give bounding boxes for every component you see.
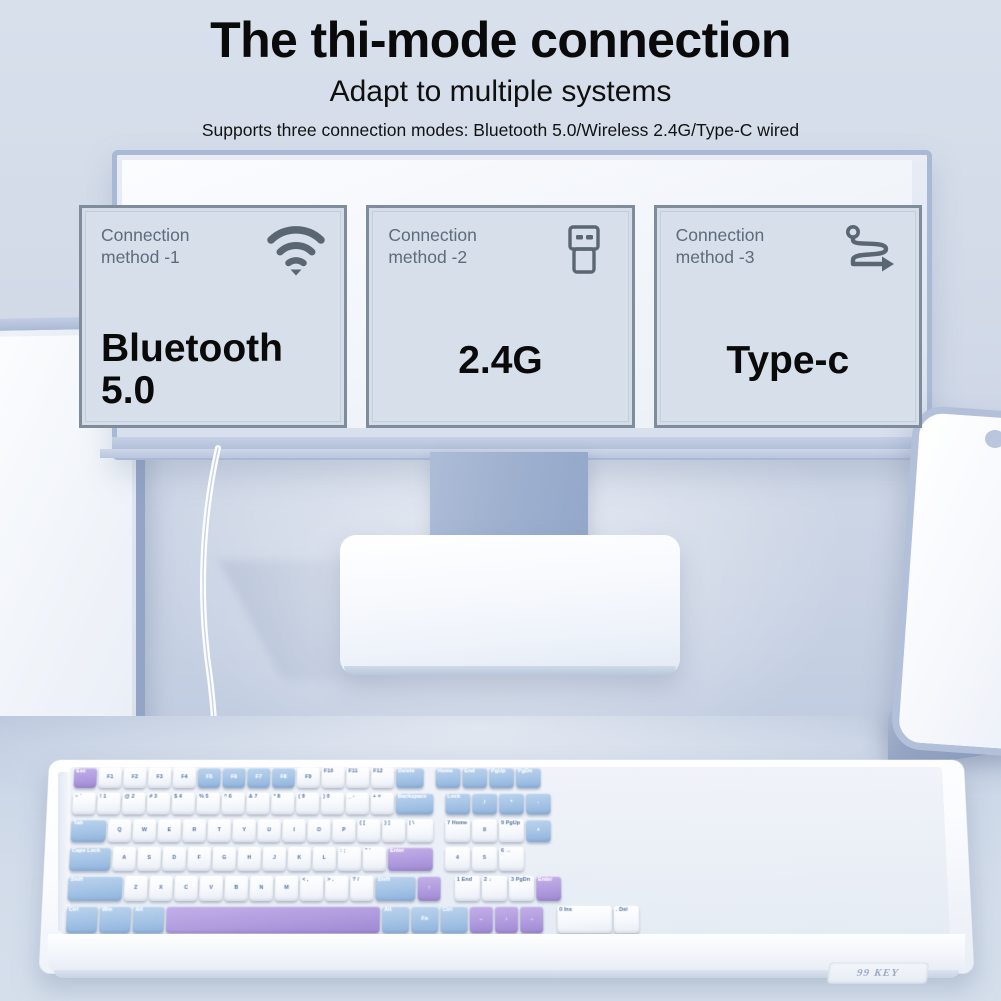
keyboard-bottom-edge xyxy=(54,970,959,978)
connection-card-1: Connection method -1 Bluetooth 5.0 xyxy=(79,205,347,428)
keycap-esc[interactable]: Esc xyxy=(73,767,97,787)
keycap-8[interactable]: 8 xyxy=(472,819,497,842)
keycap-end[interactable]: End xyxy=(462,767,487,787)
keycap-pgup[interactable]: PgUp xyxy=(489,767,514,787)
page-subtitle: Adapt to multiple systems xyxy=(0,75,1001,109)
keycap-1[interactable]: ! 1 xyxy=(97,793,121,815)
keycap-f5[interactable]: F5 xyxy=(197,767,221,787)
keycap-f[interactable]: F xyxy=(187,847,211,871)
keycap-shift[interactable]: Shift xyxy=(375,876,416,901)
keycap-y[interactable]: Y xyxy=(232,819,256,842)
card-value-2: 2.4G xyxy=(369,340,631,381)
keycap-f10[interactable]: F10 xyxy=(321,767,344,787)
usb-dongle-icon xyxy=(553,223,615,279)
keycap-0ins[interactable]: 0 Ins xyxy=(557,906,612,933)
keycap-z[interactable]: Z xyxy=(124,876,148,901)
headings-block: The thi-mode connection Adapt to multipl… xyxy=(0,0,1001,141)
keycap-d[interactable]: D xyxy=(162,847,186,871)
keycap-spacebar[interactable]: ~ ` xyxy=(72,793,96,815)
keycap-alt[interactable]: Alt xyxy=(132,906,164,933)
keycap-spacebar[interactable]: ? / xyxy=(350,876,374,901)
keycap-spacebar[interactable]: < , xyxy=(300,876,324,901)
keycap-6[interactable]: ^ 6 xyxy=(221,793,245,815)
card-value-3: Type-c xyxy=(657,340,919,381)
keycap-f8[interactable]: F8 xyxy=(272,767,295,787)
keycap-e[interactable]: E xyxy=(157,819,181,842)
keycap-ctrl[interactable]: Ctrl xyxy=(66,906,99,933)
keycap-ctrl[interactable]: Ctrl xyxy=(440,906,467,933)
keycap-r[interactable]: R xyxy=(182,819,206,842)
connection-methods-list: Connection method -1 Bluetooth 5.0 Conne… xyxy=(79,205,922,428)
keycap-v[interactable]: V xyxy=(199,876,223,901)
keycap-9[interactable]: ( 9 xyxy=(296,793,319,815)
keycap-l[interactable]: L xyxy=(313,847,337,871)
keycap-capslock[interactable]: Caps Lock xyxy=(69,847,111,871)
card-heading-3: Connection method -3 xyxy=(676,225,765,269)
keycap-f1[interactable]: F1 xyxy=(98,767,122,787)
keycap-tab[interactable]: Tab xyxy=(70,819,106,842)
keycap-j[interactable]: J xyxy=(262,847,286,871)
keycap-x[interactable]: X xyxy=(149,876,173,901)
keycap-spacebar[interactable]: " ' xyxy=(363,847,386,871)
keycap-a[interactable]: A xyxy=(112,847,136,871)
keycap-q[interactable]: Q xyxy=(107,819,131,842)
keycap-s[interactable]: S xyxy=(137,847,161,871)
keycap-t[interactable]: T xyxy=(207,819,231,842)
keycap-m[interactable]: M xyxy=(275,876,299,901)
keycap-u[interactable]: U xyxy=(257,819,281,842)
keycap-g[interactable]: G xyxy=(212,847,236,871)
keycap-lock[interactable]: Lock xyxy=(445,793,470,815)
keycap-spacebar[interactable]: * xyxy=(499,793,524,815)
keycap-del[interactable]: . Del xyxy=(614,906,640,933)
connection-card-2: Connection method -2 2.4G xyxy=(366,205,634,428)
keycap-5[interactable]: % 5 xyxy=(196,793,220,815)
keycap-f4[interactable]: F4 xyxy=(173,767,197,787)
scene-photo: EscF1F2F3F4F5F6F7F8F9F10F11F12DeleteHome… xyxy=(0,0,1001,1001)
keycap-spacebar[interactable]: - xyxy=(526,793,551,815)
keycap-spacebar[interactable]: + xyxy=(526,819,551,842)
keycap-2[interactable]: 2 ↓ xyxy=(482,876,507,901)
keycap-spacebar[interactable]: / xyxy=(472,793,497,815)
keycap-w[interactable]: W xyxy=(132,819,156,842)
keycap-f11[interactable]: F11 xyxy=(346,767,369,787)
keycap-f7[interactable]: F7 xyxy=(247,767,270,787)
keycap-spacebar[interactable]: > . xyxy=(325,876,349,901)
cable-arrow-icon xyxy=(840,223,902,279)
keycap-c[interactable]: C xyxy=(174,876,198,901)
keycap-spacebar[interactable]: → xyxy=(520,906,543,933)
keycap-backspace[interactable]: Backspace xyxy=(396,793,434,815)
keycap-shift[interactable]: Shift xyxy=(67,876,123,901)
product-marketing-image: EscF1F2F3F4F5F6F7F8F9F10F11F12DeleteHome… xyxy=(0,0,1001,1001)
monitor-stand-base xyxy=(340,535,680,675)
keycap-f3[interactable]: F3 xyxy=(148,767,172,787)
keycap-4[interactable]: 4 xyxy=(445,847,470,871)
page-description: Supports three connection modes: Bluetoo… xyxy=(0,120,1001,141)
keycap-f2[interactable]: F2 xyxy=(123,767,147,787)
keycap-0[interactable]: ) 0 xyxy=(321,793,344,815)
keycap-p[interactable]: P xyxy=(332,819,355,842)
keycap-2[interactable]: @ 2 xyxy=(122,793,146,815)
keycap-spacebar[interactable]: + = xyxy=(371,793,394,815)
key-count-badge: 99 KEY xyxy=(827,962,929,984)
keycap-fn[interactable]: Fn xyxy=(411,906,439,933)
page-title: The thi-mode connection xyxy=(0,14,1001,66)
keycap-delete[interactable]: Delete xyxy=(396,767,424,787)
keycap-spacebar[interactable]: | \ xyxy=(407,819,433,842)
keycap-spacebar[interactable]: ← xyxy=(470,906,493,933)
keycap-b[interactable]: B xyxy=(224,876,248,901)
keycap-spacebar[interactable]: _ - xyxy=(346,793,369,815)
keycap-enter[interactable]: Enter xyxy=(388,847,433,871)
keycap-1end[interactable]: 1 End xyxy=(455,876,480,901)
keycap-spacebar[interactable]: ↑ xyxy=(417,876,440,901)
keycap-7[interactable]: & 7 xyxy=(246,793,270,815)
keycap-h[interactable]: H xyxy=(237,847,261,871)
keycap-win[interactable]: Win xyxy=(99,906,132,933)
keycap-f12[interactable]: F12 xyxy=(371,767,394,787)
monitor-stand-base-edge xyxy=(344,666,676,675)
keycap-spacebar[interactable]: } ] xyxy=(382,819,405,842)
keycap-f9[interactable]: F9 xyxy=(297,767,320,787)
keycap-k[interactable]: K xyxy=(287,847,311,871)
keycap-9pgup[interactable]: 9 PgUp xyxy=(499,819,524,842)
keycap-spacebar[interactable]: { [ xyxy=(357,819,380,842)
keycap-spacebar[interactable] xyxy=(166,906,381,933)
keycap-5[interactable]: 5 xyxy=(472,847,497,871)
keycap-alt[interactable]: Alt xyxy=(382,906,410,933)
card-heading-2: Connection method -2 xyxy=(388,225,477,269)
keycap-spacebar[interactable]: : ; xyxy=(338,847,361,871)
keycap-pgdn[interactable]: PgDn xyxy=(516,767,541,787)
keycap-enter[interactable]: Enter xyxy=(536,876,561,901)
connection-card-3: Connection method -3 Type-c xyxy=(654,205,922,428)
card-value-1: Bluetooth 5.0 xyxy=(101,328,332,411)
keycap-spacebar[interactable]: ↓ xyxy=(495,906,518,933)
keycap-3[interactable]: # 3 xyxy=(147,793,171,815)
keycap-grid: EscF1F2F3F4F5F6F7F8F9F10F11F12DeleteHome… xyxy=(65,766,950,939)
keycap-o[interactable]: O xyxy=(307,819,330,842)
keycap-i[interactable]: I xyxy=(282,819,306,842)
keycap-7home[interactable]: 7 Home xyxy=(445,819,470,842)
keycap-8[interactable]: * 8 xyxy=(271,793,294,815)
card-heading-1: Connection method -1 xyxy=(101,225,190,269)
wifi-signal-icon xyxy=(265,223,327,279)
keyboard: EscF1F2F3F4F5F6F7F8F9F10F11F12DeleteHome… xyxy=(44,758,969,983)
keycap-home[interactable]: Home xyxy=(436,767,461,787)
keycap-3pgdn[interactable]: 3 PgDn xyxy=(509,876,534,901)
keycap-6[interactable]: 6 → xyxy=(499,847,524,871)
keyboard-front-lip xyxy=(48,934,965,974)
keycap-f6[interactable]: F6 xyxy=(222,767,245,787)
keycap-4[interactable]: $ 4 xyxy=(172,793,196,815)
keycap-n[interactable]: N xyxy=(249,876,273,901)
